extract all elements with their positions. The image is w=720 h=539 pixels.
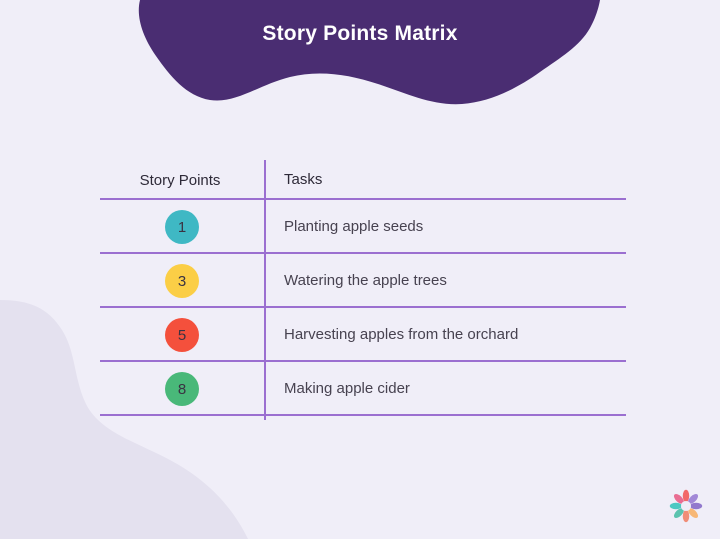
page-title: Story Points Matrix <box>0 20 720 48</box>
rule-under-header <box>100 198 626 200</box>
rule-under-row <box>100 360 626 362</box>
story-points-matrix-table: Story Points Tasks 1 Planting apple seed… <box>100 160 626 416</box>
table-grid: Story Points Tasks 1 Planting apple seed… <box>100 160 626 416</box>
task-label: Harvesting apples from the orchard <box>284 326 518 343</box>
logo-petal <box>683 510 689 522</box>
story-point-badge: 1 <box>165 210 199 244</box>
table-row[interactable]: 1 Planting apple seeds <box>100 200 626 254</box>
story-point-badge: 3 <box>165 264 199 298</box>
story-point-badge: 5 <box>165 318 199 352</box>
cell-task: Watering the apple trees <box>264 272 626 290</box>
cell-task: Making apple cider <box>264 380 626 398</box>
rule-under-row <box>100 306 626 308</box>
logo-petals <box>670 490 702 522</box>
story-point-badge: 8 <box>165 372 199 406</box>
table-header-row: Story Points Tasks <box>100 160 626 200</box>
rule-under-row <box>100 414 626 416</box>
rule-under-row <box>100 252 626 254</box>
flower-petal-logo <box>668 488 704 524</box>
column-divider <box>264 160 266 420</box>
column-header-tasks: Tasks <box>284 171 322 188</box>
table-row[interactable]: 5 Harvesting apples from the orchard <box>100 308 626 362</box>
cell-task: Planting apple seeds <box>264 218 626 236</box>
header-cell-tasks: Tasks <box>264 171 626 189</box>
column-header-story-points: Story Points <box>140 172 225 189</box>
cell-story-points: 8 <box>100 372 264 406</box>
cell-story-points: 3 <box>100 264 264 298</box>
logo-petal <box>670 503 682 509</box>
cell-story-points: 1 <box>100 210 264 244</box>
logo-center <box>681 501 691 511</box>
task-label: Making apple cider <box>284 380 410 397</box>
cell-task: Harvesting apples from the orchard <box>264 326 626 344</box>
header-blob <box>139 0 600 104</box>
cell-story-points: 5 <box>100 318 264 352</box>
task-label: Watering the apple trees <box>284 272 447 289</box>
header-cell-story-points: Story Points <box>100 172 264 189</box>
logo-petal <box>683 490 689 502</box>
table-row[interactable]: 8 Making apple cider <box>100 362 626 416</box>
slide-canvas: Story Points Matrix Story Points Tasks 1 <box>0 0 720 539</box>
task-label: Planting apple seeds <box>284 218 423 235</box>
table-row[interactable]: 3 Watering the apple trees <box>100 254 626 308</box>
logo-petal <box>690 503 702 509</box>
